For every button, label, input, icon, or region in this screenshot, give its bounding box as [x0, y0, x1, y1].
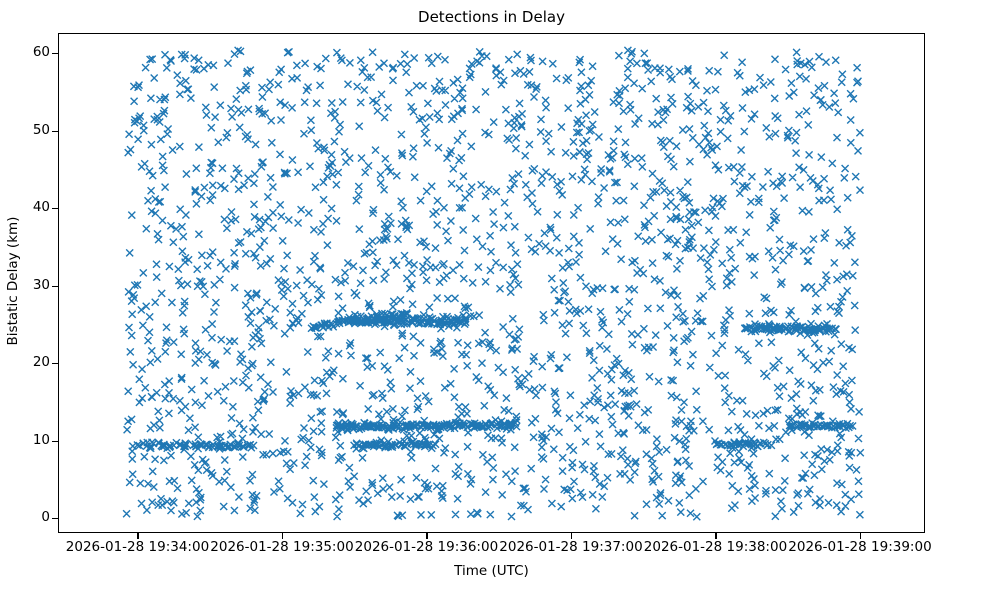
x-axis-tick-label: 2026-01-28 19:38:00 — [644, 540, 787, 555]
x-axis-tick-label: 2026-01-28 19:36:00 — [355, 540, 498, 555]
figure-canvas: Detections in Delay Bistatic Delay (km) … — [0, 0, 987, 590]
x-axis-tick-label: 2026-01-28 19:37:00 — [499, 540, 642, 555]
x-axis-tick-label: 2026-01-28 19:34:00 — [66, 540, 209, 555]
y-axis-tick-mark-group — [0, 33, 58, 533]
x-axis-label: Time (UTC) — [58, 563, 925, 579]
page-title: Detections in Delay — [58, 8, 925, 26]
scatter-marker-path — [123, 47, 864, 520]
x-axis-tick-label: 2026-01-28 19:39:00 — [788, 540, 931, 555]
x-axis-tick-label: 2026-01-28 19:35:00 — [210, 540, 353, 555]
scatter-series — [59, 34, 925, 533]
x-axis-tick-label-group: 2026-01-28 19:34:002026-01-28 19:35:0020… — [0, 540, 987, 560]
plot-area[interactable] — [58, 33, 925, 533]
